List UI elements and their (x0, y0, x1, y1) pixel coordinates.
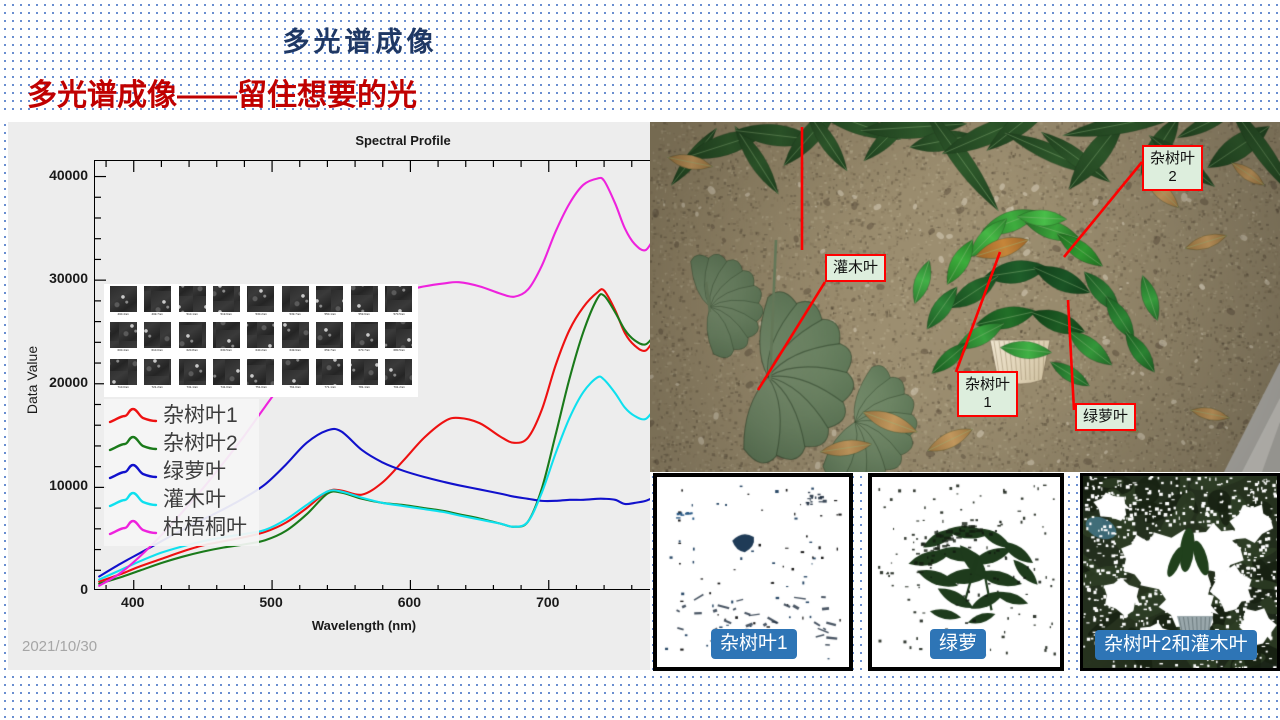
band-thumbnail-image (351, 322, 378, 348)
band-thumbnail-image (213, 359, 240, 385)
band-thumbnail-label: 490.4nm (118, 312, 129, 317)
band-thumbnail-image (282, 359, 309, 385)
band-thumbnail: 659.7nm (313, 322, 347, 358)
segmentation-thumbnail-1[interactable]: 杂树叶1 (653, 473, 853, 671)
slide-root: 多光谱成像 多光谱成像——留住想要的光 Spectral Profile 010… (0, 0, 1280, 720)
legend-swatch-icon (108, 433, 158, 455)
band-thumbnail-label: 519.6nm (221, 312, 232, 317)
band-thumbnail-image (110, 322, 137, 348)
band-thumbnail-image (385, 359, 412, 385)
y-tick-40000: 40000 (49, 167, 88, 183)
callout-leader-2 (1064, 162, 1142, 257)
band-thumbnail-image (144, 322, 171, 348)
legend-item-枯梧桐叶[interactable]: 枯梧桐叶 (108, 514, 255, 542)
y-tick-10000: 10000 (49, 477, 88, 493)
band-thumbnail-label: 600.4nm (118, 349, 129, 354)
band-thumbnail: 791.2nm (382, 359, 416, 395)
photo-callout-1: 杂树叶 2 (1142, 145, 1203, 191)
band-thumbnail-image (247, 286, 274, 312)
band-thumbnail: 559.6nm (347, 286, 381, 322)
band-thumbnail-label: 761.0nm (290, 385, 301, 390)
legend-swatch-icon (108, 405, 158, 427)
band-thumbnail-label: 741.0nm (221, 385, 232, 390)
band-thumbnail: 539.7nm (278, 286, 312, 322)
band-thumbnail-label: 630.5nm (221, 349, 232, 354)
band-thumbnail-label: 659.7nm (324, 349, 335, 354)
band-thumbnail-label: 539.7nm (290, 312, 301, 317)
band-thumbnail-label: 781.1nm (359, 385, 370, 390)
band-thumbnail: 519.6nm (209, 286, 243, 322)
band-thumbnail-image (110, 286, 137, 312)
band-thumbnail-image (144, 359, 171, 385)
band-thumbnail: 771.1nm (313, 359, 347, 395)
band-thumbnail-label: 510.1nm (186, 312, 197, 317)
scene-photo: 灌木叶杂树叶 2杂树叶 1绿萝叶 (650, 122, 1280, 472)
band-thumbnail-image (351, 286, 378, 312)
band-thumbnail-image (385, 322, 412, 348)
band-thumbnail-image (316, 359, 343, 385)
photo-callout-3: 绿萝叶 (1075, 403, 1136, 431)
band-thumbnail-label: 751.0nm (255, 385, 266, 390)
band-thumbnail: 610.0nm (140, 322, 174, 358)
band-thumbnail-label: 670.7nm (359, 349, 370, 354)
callout-leader-4 (1068, 300, 1074, 410)
band-thumbnail: 530.2nm (244, 286, 278, 322)
x-tick-700: 700 (536, 594, 559, 610)
legend-item-灌木叶[interactable]: 灌木叶 (108, 486, 255, 514)
header-divider (0, 112, 1280, 122)
x-axis-title: Wavelength (nm) (94, 618, 634, 633)
band-thumbnail: 499.7nm (140, 286, 174, 322)
band-thumbnail-label: 620.8nm (186, 349, 197, 354)
band-thumbnail-image (316, 322, 343, 348)
legend-label: 杂树叶1 (163, 405, 238, 427)
photo-callout-2: 杂树叶 1 (957, 371, 1018, 417)
segmentation-thumbnail-2[interactable]: 绿萝 (868, 473, 1064, 671)
callout-leader-1 (758, 282, 825, 390)
band-thumbnail-label: 721.2nm (152, 385, 163, 390)
band-thumbnail-image (282, 322, 309, 348)
page-title: 多光谱成像 (0, 20, 720, 59)
band-thumbnail-label: 610.0nm (152, 349, 163, 354)
thumbnail-2-badge: 绿萝 (930, 629, 986, 659)
band-thumbnail: 670.7nm (347, 322, 381, 358)
band-thumbnail-label: 640.2nm (255, 349, 266, 354)
x-axis-tick-labels: 400500600700800 (94, 594, 650, 620)
band-thumbnail-image (179, 286, 206, 312)
band-thumbnail: 640.2nm (244, 322, 278, 358)
band-thumbnail-label: 649.9nm (290, 349, 301, 354)
y-tick-30000: 30000 (49, 270, 88, 286)
band-thumbnail-label: 710.0nm (118, 385, 129, 390)
thumbnail-3-badge: 杂树叶2和灌木叶 (1095, 630, 1257, 660)
band-thumbnail: 731.1nm (175, 359, 209, 395)
band-thumbnail-image (144, 286, 171, 312)
band-thumbnail: 620.8nm (175, 322, 209, 358)
band-thumbnail-image (247, 322, 274, 348)
band-thumbnail: 781.1nm (347, 359, 381, 395)
thumbnail-1-badge: 杂树叶1 (711, 629, 797, 659)
band-thumbnail-image (351, 359, 378, 385)
y-tick-20000: 20000 (49, 374, 88, 390)
band-thumbnail: 550.1nm (313, 286, 347, 322)
x-tick-500: 500 (259, 594, 282, 610)
spectral-chart-panel: Spectral Profile 010000200003000040000 D… (8, 122, 650, 670)
slide-header: 多光谱成像 多光谱成像——留住想要的光 (0, 0, 1280, 118)
band-thumbnail-label: 499.7nm (152, 312, 163, 317)
date-stamp: 2021/10/30 (22, 638, 97, 655)
band-thumbnail-label: 791.2nm (393, 385, 404, 390)
band-thumbnail: 751.0nm (244, 359, 278, 395)
band-thumbnail-label: 731.1nm (186, 385, 197, 390)
band-thumbnail: 741.0nm (209, 359, 243, 395)
band-thumbnail-label: 530.2nm (255, 312, 266, 317)
chart-legend: 杂树叶1杂树叶2绿萝叶灌木叶枯梧桐叶 (104, 399, 259, 546)
callout-leader-3 (956, 252, 1000, 372)
legend-item-绿萝叶[interactable]: 绿萝叶 (108, 458, 255, 486)
photo-callout-0: 灌木叶 (825, 254, 886, 282)
legend-item-杂树叶2[interactable]: 杂树叶2 (108, 430, 255, 458)
band-thumbnail: 649.9nm (278, 322, 312, 358)
band-thumbnail: 721.2nm (140, 359, 174, 395)
band-thumbnail: 570.5nm (382, 286, 416, 322)
band-thumbnail: 510.1nm (175, 286, 209, 322)
chart-title: Spectral Profile (8, 133, 650, 148)
band-thumbnail-image (213, 286, 240, 312)
band-thumbnail-image (213, 322, 240, 348)
band-thumbnail-image (385, 286, 412, 312)
x-tick-600: 600 (398, 594, 421, 610)
segmentation-thumbnail-3[interactable]: 杂树叶2和灌木叶 (1080, 473, 1280, 671)
legend-swatch-icon (108, 461, 158, 483)
band-thumbnail-label: 550.1nm (324, 312, 335, 317)
band-thumbnail-label: 680.5nm (393, 349, 404, 354)
y-tick-0: 0 (80, 581, 88, 597)
band-thumbnail: 490.4nm (106, 286, 140, 322)
x-tick-400: 400 (121, 594, 144, 610)
band-thumbnail-image (247, 359, 274, 385)
legend-label: 枯梧桐叶 (163, 517, 247, 539)
band-thumbnail-image (179, 322, 206, 348)
band-thumbnail-label: 570.5nm (393, 312, 404, 317)
band-thumbnail-image (282, 286, 309, 312)
band-thumbnail: 761.0nm (278, 359, 312, 395)
legend-label: 绿萝叶 (163, 461, 226, 483)
band-thumbnail-label: 559.6nm (359, 312, 370, 317)
y-axis-title: Data Value (24, 310, 40, 450)
band-thumbnail-label: 771.1nm (324, 385, 335, 390)
band-thumbnail: 600.4nm (106, 322, 140, 358)
slide-subtitle: 多光谱成像——留住想要的光 (27, 70, 417, 114)
band-thumbnail-image (316, 286, 343, 312)
legend-swatch-icon (108, 489, 158, 511)
legend-label: 杂树叶2 (163, 433, 238, 455)
band-thumbnail-grid: 490.4nm499.7nm510.1nm519.6nm530.2nm539.7… (104, 284, 418, 397)
band-thumbnail: 680.5nm (382, 322, 416, 358)
legend-label: 灌木叶 (163, 489, 226, 511)
band-thumbnail: 710.0nm (106, 359, 140, 395)
legend-swatch-icon (108, 517, 158, 539)
band-thumbnail-image (110, 359, 137, 385)
band-thumbnail-image (179, 359, 206, 385)
band-thumbnail: 630.5nm (209, 322, 243, 358)
legend-item-杂树叶1[interactable]: 杂树叶1 (108, 402, 255, 430)
